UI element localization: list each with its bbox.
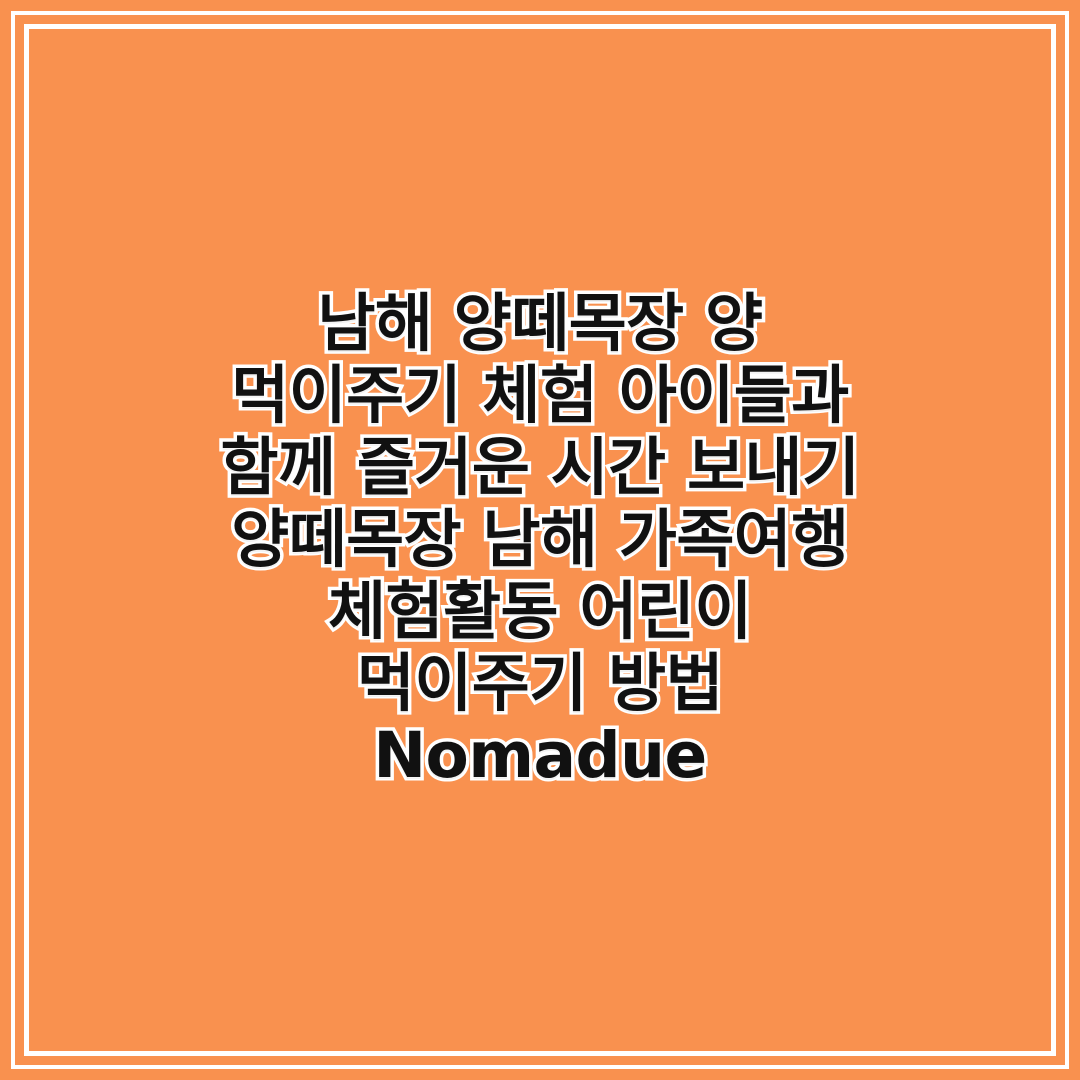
headline-container: 남해 양떼목장 양 먹이주기 체험 아이들과 함께 즐거운 시간 보내기 양떼목… bbox=[0, 0, 1080, 1080]
page-title: 남해 양떼목장 양 먹이주기 체험 아이들과 함께 즐거운 시간 보내기 양떼목… bbox=[215, 288, 865, 792]
title-card: 남해 양떼목장 양 먹이주기 체험 아이들과 함께 즐거운 시간 보내기 양떼목… bbox=[0, 0, 1080, 1080]
